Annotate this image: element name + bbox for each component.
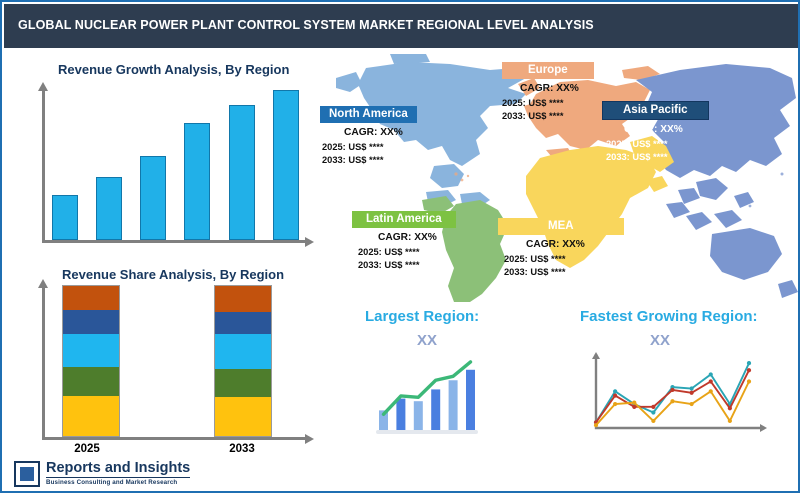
- callout-mea: MEA CAGR: XX% 2025: US$ **** 2033: US$ *…: [498, 216, 624, 280]
- fastest-x-arrow: [760, 424, 767, 432]
- growth-bar: [96, 177, 122, 240]
- callout-europe: Europe CAGR: XX% 2025: US$ **** 2033: US…: [502, 60, 594, 124]
- largest-region-bar: [414, 401, 423, 430]
- share-segment: [63, 396, 119, 437]
- growth-bar: [184, 123, 210, 240]
- header-bar: GLOBAL NUCLEAR POWER PLANT CONTROL SYSTE…: [4, 4, 798, 48]
- share-segment: [215, 397, 271, 436]
- growth-bars: [42, 90, 307, 240]
- fastest-region-point: [613, 389, 617, 393]
- region-2033-mea: 2033: US$ ****: [498, 266, 624, 279]
- region-cagr-europe: CAGR: XX%: [502, 82, 594, 97]
- fastest-region-point: [651, 419, 655, 423]
- share-stacked-bar: [62, 285, 120, 437]
- largest-region-title: Largest Region:: [365, 308, 479, 325]
- largest-region-chart: [372, 354, 482, 436]
- callout-north-america: North America CAGR: XX% 2025: US$ **** 2…: [320, 104, 417, 168]
- largest-region-bar: [449, 380, 458, 430]
- region-cagr-mea: CAGR: XX%: [498, 238, 624, 253]
- page-title: GLOBAL NUCLEAR POWER PLANT CONTROL SYSTE…: [18, 17, 594, 32]
- region-cagr-asia-pacific: CAGR: XX%: [602, 123, 709, 138]
- fastest-region-value: XX: [650, 332, 670, 349]
- region-2025-mea: 2025: US$ ****: [498, 253, 624, 266]
- brand-name: Reports and Insights: [46, 460, 190, 478]
- share-segment: [63, 310, 119, 334]
- share-chart-title: Revenue Share Analysis, By Region: [62, 267, 284, 282]
- fastest-region-point: [747, 361, 751, 365]
- fastest-region-point: [613, 402, 617, 406]
- region-2025-europe: 2025: US$ ****: [502, 97, 594, 110]
- fastest-region-point: [670, 399, 674, 403]
- region-2025-north-america: 2025: US$ ****: [320, 141, 417, 154]
- region-cagr-north-america: CAGR: XX%: [320, 126, 417, 141]
- region-badge-latin-america: Latin America: [352, 211, 456, 228]
- fastest-region-chart: [582, 350, 767, 442]
- fastest-region-point: [728, 419, 732, 423]
- largest-region-value: XX: [417, 332, 437, 349]
- growth-bar: [273, 90, 299, 240]
- region-2033-asia-pacific: 2033: US$ ****: [602, 151, 709, 164]
- share-stacked-bar: [214, 285, 272, 437]
- region-2025-asia-pacific: 2025: US$ ****: [602, 138, 709, 151]
- share-xtick-2025: 2025: [57, 443, 117, 455]
- fastest-y-arrow: [592, 352, 600, 359]
- brand-tagline: Business Consulting and Market Research: [46, 479, 177, 486]
- fastest-region-point: [651, 410, 655, 414]
- fastest-region-point: [747, 368, 751, 372]
- share-xtick-2033: 2033: [212, 443, 272, 455]
- region-badge-asia-pacific: Asia Pacific: [602, 101, 709, 120]
- largest-region-bar: [431, 389, 440, 430]
- growth-x-axis: [42, 240, 307, 243]
- fastest-region-point: [709, 389, 713, 393]
- fastest-region-point: [651, 405, 655, 409]
- share-segment: [215, 334, 271, 369]
- share-segment: [63, 334, 119, 367]
- region-stats-asia-pacific: CAGR: XX% 2025: US$ **** 2033: US$ ****: [602, 123, 709, 165]
- logo-square-icon: [14, 461, 40, 487]
- share-x-axis: [42, 437, 307, 440]
- region-badge-north-america: North America: [320, 106, 417, 123]
- fastest-region-point: [613, 393, 617, 397]
- callout-asia-pacific: Asia Pacific CAGR: XX% 2025: US$ **** 20…: [602, 100, 709, 165]
- region-badge-mea: MEA: [498, 218, 624, 235]
- growth-bar: [140, 156, 166, 240]
- fastest-region-point: [690, 391, 694, 395]
- fastest-region-point: [709, 372, 713, 376]
- region-2033-north-america: 2033: US$ ****: [320, 154, 417, 167]
- fastest-region-title: Fastest Growing Region:: [580, 308, 758, 325]
- infographic-page: GLOBAL NUCLEAR POWER PLANT CONTROL SYSTE…: [0, 0, 800, 493]
- fastest-region-point: [690, 386, 694, 390]
- share-segment: [215, 369, 271, 398]
- growth-bar: [229, 105, 255, 240]
- fastest-region-point: [690, 402, 694, 406]
- region-stats-latin-america: CAGR: XX% 2025: US$ **** 2033: US$ ****: [352, 231, 456, 273]
- world-map: North America CAGR: XX% 2025: US$ **** 2…: [330, 54, 798, 302]
- fastest-region-point: [594, 423, 598, 427]
- callout-latin-america: Latin America CAGR: XX% 2025: US$ **** 2…: [352, 209, 456, 273]
- region-stats-north-america: CAGR: XX% 2025: US$ **** 2033: US$ ****: [320, 126, 417, 168]
- share-segment: [215, 312, 271, 335]
- fastest-region-point: [632, 401, 636, 405]
- fastest-region-point: [747, 379, 751, 383]
- share-segment: [215, 286, 271, 312]
- share-bars: [42, 287, 307, 437]
- brand-logo: Reports and Insights Business Consulting…: [14, 460, 234, 490]
- growth-chart-title: Revenue Growth Analysis, By Region: [58, 62, 289, 77]
- region-2025-latin-america: 2025: US$ ****: [352, 246, 456, 259]
- region-2033-latin-america: 2033: US$ ****: [352, 259, 456, 272]
- region-cagr-latin-america: CAGR: XX%: [352, 231, 456, 246]
- growth-bar: [52, 195, 78, 240]
- fastest-region-point: [728, 406, 732, 410]
- share-segment: [63, 286, 119, 310]
- fastest-region-point: [670, 388, 674, 392]
- region-stats-mea: CAGR: XX% 2025: US$ **** 2033: US$ ****: [498, 238, 624, 280]
- fastest-region-point: [632, 405, 636, 409]
- fastest-region-svg: [582, 350, 767, 442]
- region-badge-europe: Europe: [502, 62, 594, 79]
- largest-region-bar: [466, 370, 475, 430]
- region-2033-europe: 2033: US$ ****: [502, 110, 594, 123]
- region-stats-europe: CAGR: XX% 2025: US$ **** 2033: US$ ****: [502, 82, 594, 124]
- fastest-region-point: [709, 379, 713, 383]
- largest-region-bar: [396, 399, 405, 430]
- share-segment: [63, 367, 119, 396]
- largest-region-svg: [372, 354, 482, 436]
